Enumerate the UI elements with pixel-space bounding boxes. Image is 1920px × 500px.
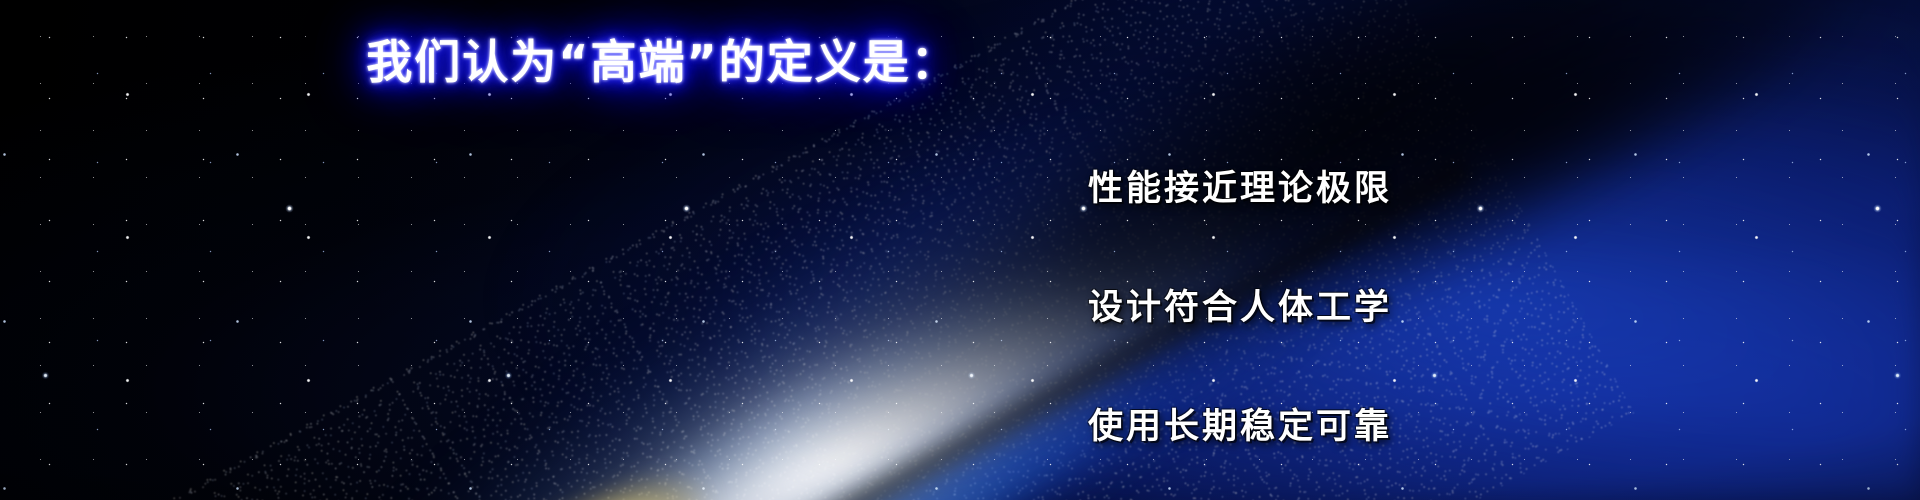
tagline-list: 性能接近理论极限 设计符合人体工学 使用长期稳定可靠	[1088, 160, 1488, 449]
tagline-item-ergonomics: 设计符合人体工学	[1088, 279, 1488, 330]
hero-banner: 我们认为“高端”的定义是： 性能接近理论极限 设计符合人体工学 使用长期稳定可靠	[0, 0, 1920, 500]
tagline-item-reliability: 使用长期稳定可靠	[1088, 398, 1488, 449]
headline-text: 我们认为“高端”的定义是：	[0, 26, 1325, 92]
tagline-item-performance: 性能接近理论极限	[1088, 160, 1488, 211]
banner-content: 我们认为“高端”的定义是： 性能接近理论极限 设计符合人体工学 使用长期稳定可靠	[0, 0, 1920, 500]
